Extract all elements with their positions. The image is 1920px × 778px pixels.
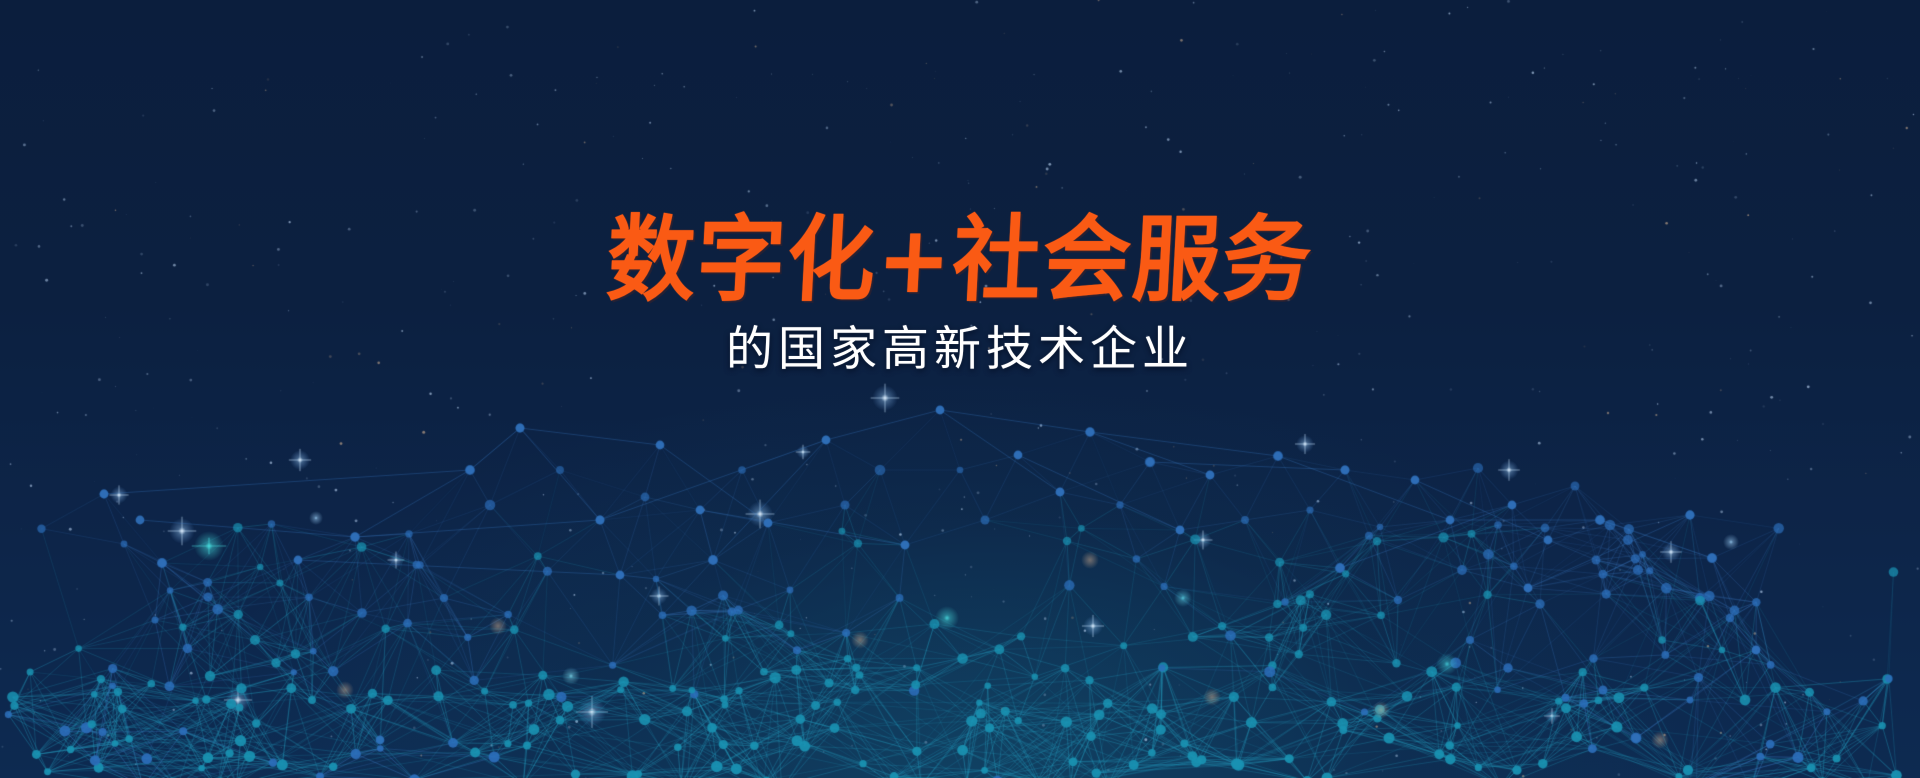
banner-headline: 数字化+社会服务 (0, 211, 1920, 308)
banner-subtitle: 的国家高新技术企业 (0, 322, 1920, 378)
network-mesh-graphic (0, 0, 1920, 778)
hero-banner: 数字化+社会服务 的国家高新技术企业 (0, 0, 1920, 778)
banner-text-block: 数字化+社会服务 的国家高新技术企业 (0, 214, 1920, 378)
